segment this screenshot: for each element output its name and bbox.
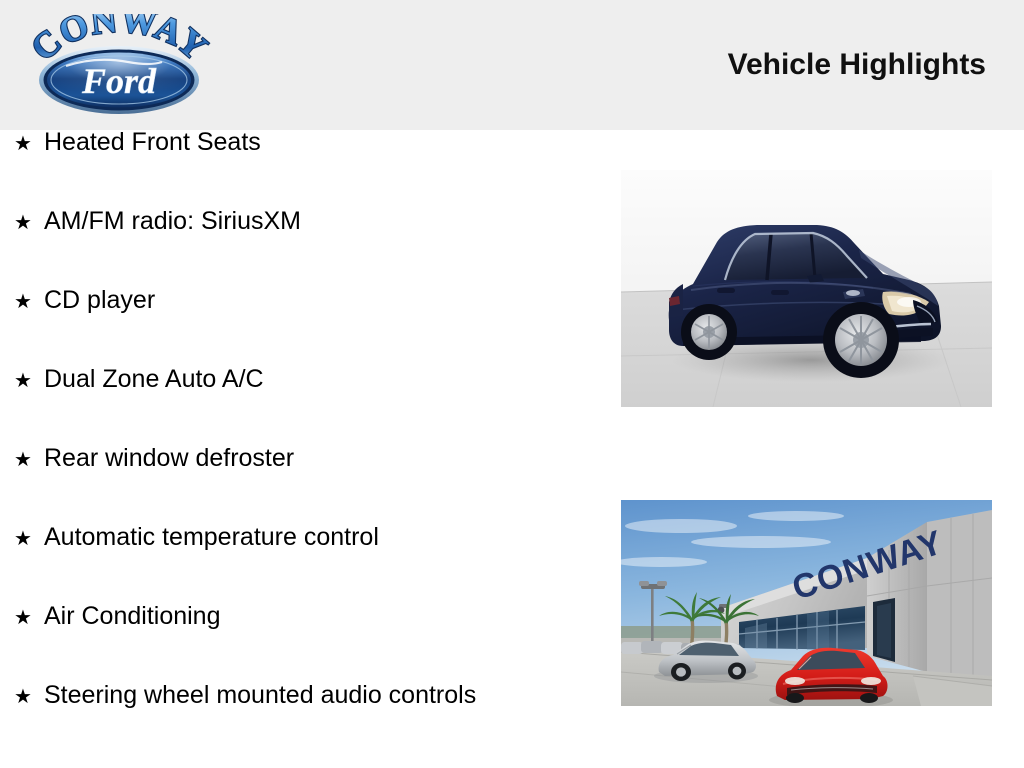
header-bar: Ford CONWAY Vehicle Highlights — [0, 0, 1024, 130]
svg-text:Ford: Ford — [81, 61, 157, 101]
page-title: Vehicle Highlights — [728, 48, 986, 82]
list-item: ★ CD player — [0, 288, 610, 367]
dealership-photo[interactable]: CONWAY — [621, 500, 992, 706]
vehicle-photo-image — [621, 170, 992, 407]
slide-root: Ford CONWAY Vehicle Highlights ★ Heated … — [0, 0, 1024, 768]
list-item: ★ Heated Front Seats — [0, 130, 610, 209]
front-wheel — [823, 302, 899, 378]
conway-ford-logo[interactable]: Ford CONWAY — [22, 14, 217, 118]
star-bullet-icon: ★ — [14, 529, 44, 549]
list-item-label: Air Conditioning — [44, 604, 221, 629]
vehicle-highlights-list: ★ Heated Front Seats ★ AM/FM radio: Siri… — [0, 130, 610, 762]
star-bullet-icon: ★ — [14, 213, 44, 233]
star-bullet-icon: ★ — [14, 687, 44, 707]
list-item-label: AM/FM radio: SiriusXM — [44, 209, 301, 234]
star-bullet-icon: ★ — [14, 292, 44, 312]
dealership-photo-image: CONWAY — [621, 500, 992, 706]
list-item: ★ AM/FM radio: SiriusXM — [0, 209, 610, 288]
list-item-label: Steering wheel mounted audio controls — [44, 683, 476, 708]
star-bullet-icon: ★ — [14, 134, 44, 154]
list-item-label: CD player — [44, 288, 155, 313]
list-item: ★ Automatic temperature control — [0, 525, 610, 604]
vehicle-photo[interactable] — [621, 170, 992, 407]
star-bullet-icon: ★ — [14, 450, 44, 470]
list-item: ★ Steering wheel mounted audio controls — [0, 683, 610, 762]
list-item-label: Automatic temperature control — [44, 525, 379, 550]
list-item: ★ Air Conditioning — [0, 604, 610, 683]
list-item-label: Heated Front Seats — [44, 130, 261, 155]
list-item: ★ Rear window defroster — [0, 446, 610, 525]
list-item-label: Rear window defroster — [44, 446, 294, 471]
conway-ford-logo-icon: Ford CONWAY — [22, 14, 217, 118]
rear-wheel — [681, 304, 737, 360]
list-item-label: Dual Zone Auto A/C — [44, 367, 264, 392]
star-bullet-icon: ★ — [14, 371, 44, 391]
star-bullet-icon: ★ — [14, 608, 44, 628]
list-item: ★ Dual Zone Auto A/C — [0, 367, 610, 446]
